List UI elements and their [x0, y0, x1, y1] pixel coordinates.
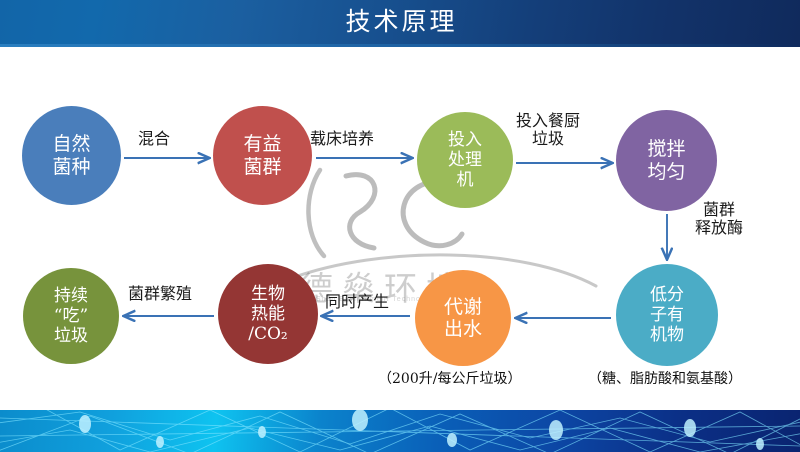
node-label-line: 自然 — [52, 133, 90, 155]
node-label-line: 均匀 — [647, 161, 685, 183]
node-continuously-eat-garbage[interactable]: 持续“吃”垃圾 — [23, 268, 119, 364]
caption-organics-caption: （糖、脂肪酸和氨基酸） — [588, 368, 742, 388]
edge-label-line: 菌群 — [695, 201, 743, 219]
node-label-line: 菌群 — [243, 156, 281, 178]
edge-label-mix: 混合 — [138, 130, 170, 148]
node-stir-evenly[interactable]: 搅拌均匀 — [616, 110, 717, 211]
node-metabolic-water[interactable]: 代谢出水 — [415, 270, 511, 366]
node-label-line: 机物 — [650, 325, 684, 345]
node-natural-strains[interactable]: 自然菌种 — [22, 106, 121, 205]
node-label-line: 子有 — [650, 305, 684, 325]
node-label-line: “吃” — [54, 306, 88, 326]
node-feed-processor[interactable]: 投入处理机 — [417, 112, 513, 208]
node-label-line: 低分 — [650, 285, 684, 305]
edge-label-line: 垃圾 — [516, 130, 580, 148]
node-label-line: 代谢 — [444, 296, 482, 318]
node-label-line: 投入 — [448, 130, 482, 150]
node-label-line: 出水 — [444, 318, 482, 340]
slide-canvas: 技术原理 德燊环境 De Shen Environment Technology… — [0, 0, 800, 452]
edge-label-line: 投入餐厨 — [516, 112, 580, 130]
edge-label-line: 同时产生 — [325, 293, 389, 311]
node-label-line: 生物 — [251, 284, 285, 304]
node-label-line: 热能 — [251, 304, 285, 324]
edge-label-flora-release-enzyme: 菌群释放酶 — [695, 201, 743, 238]
node-label-line: 有益 — [243, 133, 281, 155]
node-bio-heat-co2[interactable]: 生物热能/CO₂ — [218, 264, 318, 364]
edge-label-flora-propagation: 菌群繁殖 — [128, 285, 192, 303]
edge-label-line: 混合 — [138, 130, 170, 148]
node-low-molecular-organics[interactable]: 低分子有机物 — [616, 264, 718, 366]
node-beneficial-flora[interactable]: 有益菌群 — [213, 106, 312, 205]
node-label-line: 垃圾 — [54, 326, 88, 346]
caption-metabolic-water-caption: （200升/每公斤垃圾） — [378, 368, 521, 388]
edge-label-line: 释放酶 — [695, 219, 743, 237]
node-label-line: 搅拌 — [647, 138, 685, 160]
edge-label-line: 菌群繁殖 — [128, 285, 192, 303]
edge-label-bed-culture: 载床培养 — [310, 130, 374, 148]
node-label-line: /CO₂ — [248, 324, 288, 344]
node-label-line: 机 — [457, 170, 474, 190]
node-label-line: 处理 — [448, 150, 482, 170]
node-label-line: 持续 — [54, 286, 88, 306]
edge-label-add-kitchen-waste: 投入餐厨垃圾 — [516, 112, 580, 149]
node-label-line: 菌种 — [52, 156, 90, 178]
edge-label-simultaneously-produce: 同时产生 — [325, 293, 389, 311]
edge-label-line: 载床培养 — [310, 130, 374, 148]
